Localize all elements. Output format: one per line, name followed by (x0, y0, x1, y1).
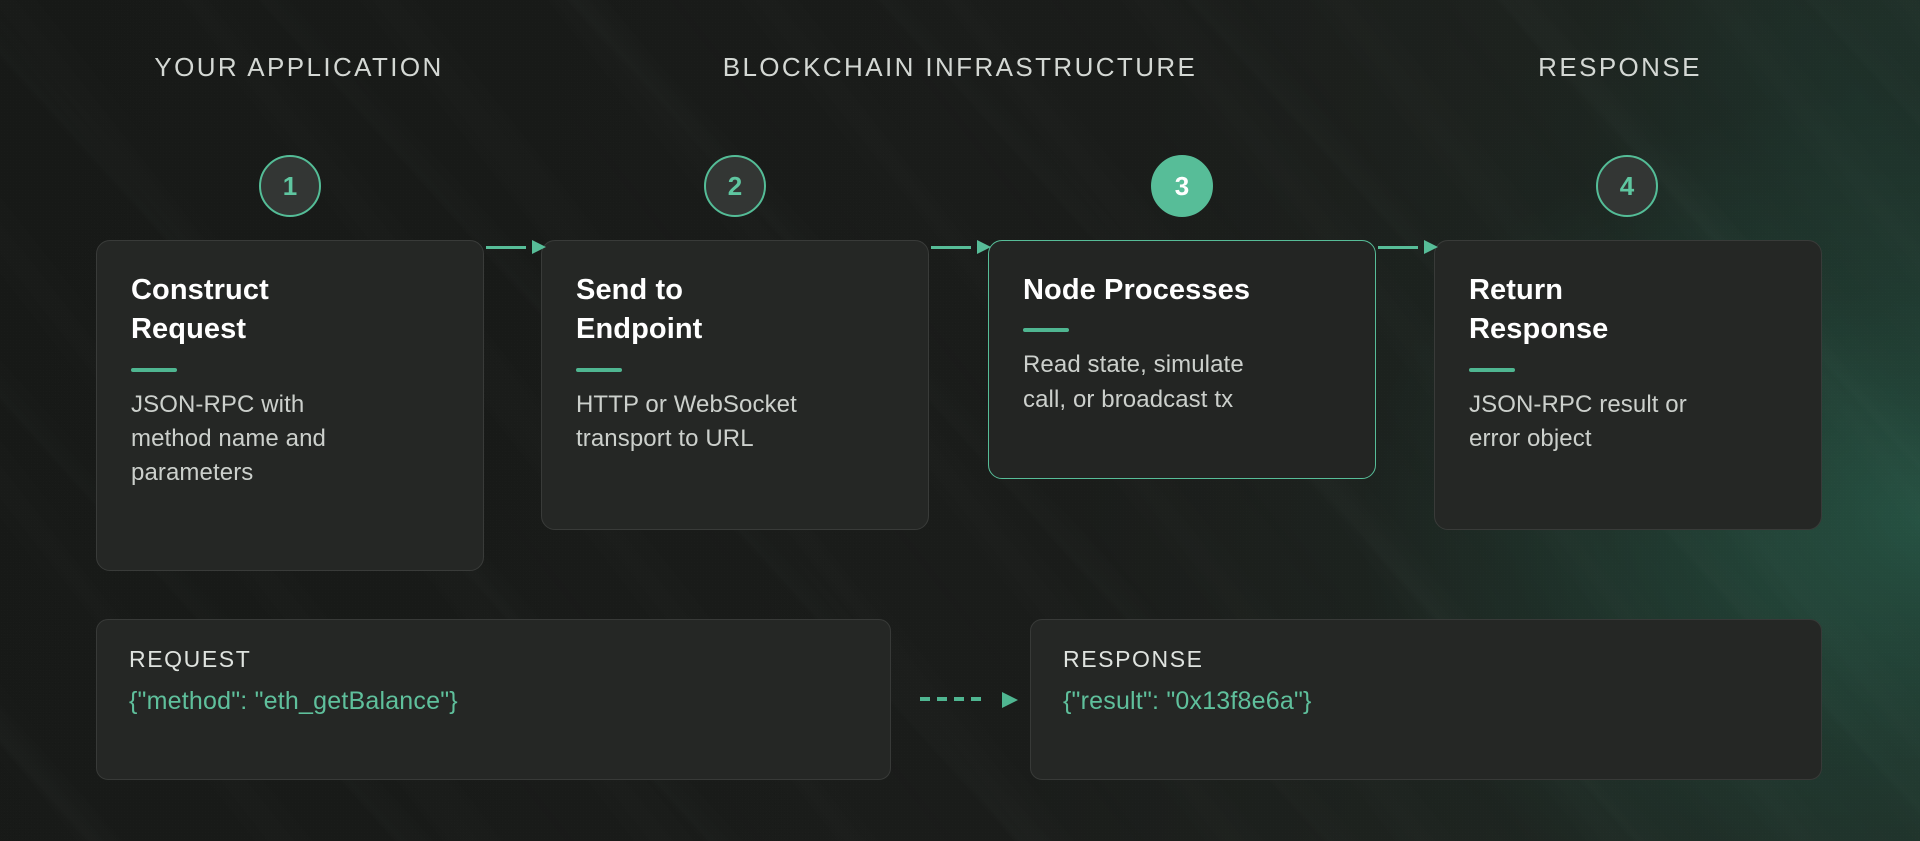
step-badge-3[interactable]: 3 (1151, 155, 1213, 217)
arrow-shaft (1378, 246, 1418, 249)
column-header-blockchain-infrastructure: BLOCKCHAIN INFRASTRUCTURE (723, 52, 1198, 83)
arrow-right-icon-step1-to-step2 (486, 240, 546, 254)
payload-panel-code: {"result": "0x13f8e6a"} (1063, 687, 1789, 716)
dashed-arrow-right-icon-request-to-response (920, 692, 1018, 706)
arrow-head (532, 240, 546, 254)
step-card-divider (1469, 368, 1515, 372)
arrow-shaft (931, 246, 971, 249)
step-card-body: JSON-RPC result or error object (1469, 388, 1787, 456)
payload-panel-code: {"method": "eth_getBalance"} (129, 687, 858, 716)
dashed-arrow-head (1002, 692, 1018, 708)
step-badge-1[interactable]: 1 (259, 155, 321, 217)
column-headers: YOUR APPLICATION BLOCKCHAIN INFRASTRUCTU… (0, 0, 1920, 110)
step-card-title: Node Processes (1023, 271, 1341, 310)
step-card-send-to-endpoint[interactable]: Send to Endpoint HTTP or WebSocket trans… (541, 240, 929, 530)
step-card-body: HTTP or WebSocket transport to URL (576, 388, 894, 456)
step-badge-2[interactable]: 2 (704, 155, 766, 217)
arrow-shaft (486, 246, 526, 249)
step-card-title: Send to Endpoint (576, 271, 894, 350)
step-badge-4[interactable]: 4 (1596, 155, 1658, 217)
arrow-head (977, 240, 991, 254)
arrow-right-icon-step3-to-step4 (1378, 240, 1438, 254)
payload-panel-response[interactable]: RESPONSE {"result": "0x13f8e6a"} (1030, 619, 1822, 780)
step-card-divider (576, 368, 622, 372)
dashed-arrow-shaft (920, 697, 988, 701)
column-header-response: RESPONSE (1538, 52, 1702, 83)
arrow-right-icon-step2-to-step3 (931, 240, 991, 254)
payload-panel-label: RESPONSE (1063, 646, 1789, 673)
diagram-canvas: YOUR APPLICATION BLOCKCHAIN INFRASTRUCTU… (0, 0, 1920, 841)
step-card-title: Construct Request (131, 271, 449, 350)
column-header-your-application: YOUR APPLICATION (154, 52, 443, 83)
step-card-title: Return Response (1469, 271, 1787, 350)
arrow-head (1424, 240, 1438, 254)
step-card-divider (1023, 328, 1069, 332)
payload-panel-label: REQUEST (129, 646, 858, 673)
step-card-construct-request[interactable]: Construct Request JSON-RPC with method n… (96, 240, 484, 571)
step-card-return-response[interactable]: Return Response JSON-RPC result or error… (1434, 240, 1822, 530)
step-card-divider (131, 368, 177, 372)
step-card-node-processes[interactable]: Node Processes Read state, simulate call… (988, 240, 1376, 479)
step-card-body: Read state, simulate call, or broadcast … (1023, 348, 1341, 416)
step-card-body: JSON-RPC with method name and parameters (131, 388, 449, 490)
payload-panel-request[interactable]: REQUEST {"method": "eth_getBalance"} (96, 619, 891, 780)
